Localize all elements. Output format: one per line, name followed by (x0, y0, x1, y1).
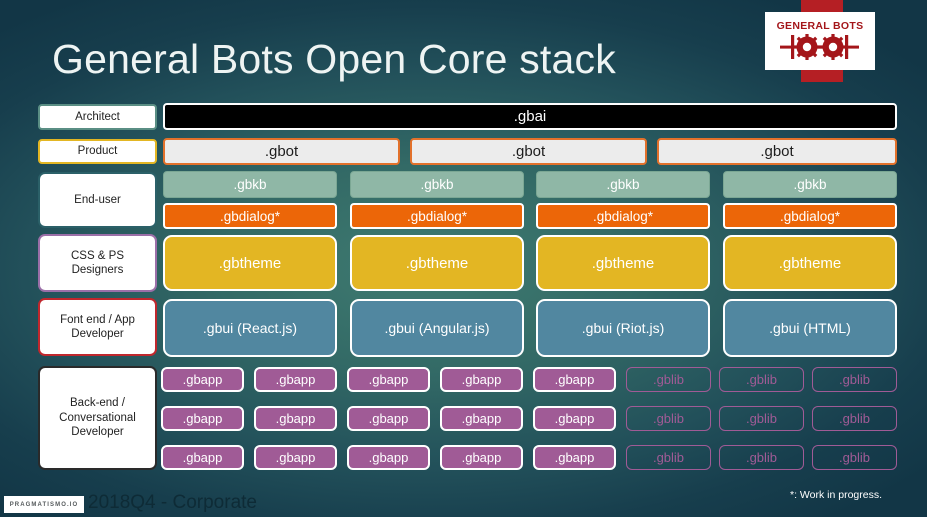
layer-gblib[interactable]: .gblib (626, 445, 711, 470)
layer-gbapp[interactable]: .gbapp (254, 367, 337, 392)
layer-gbapp[interactable]: .gbapp (440, 406, 523, 431)
layer-gblib[interactable]: .gblib (626, 406, 711, 431)
gears-logo-icon (777, 33, 863, 61)
layer-gblib[interactable]: .gblib (812, 445, 897, 470)
layer-gblib[interactable]: .gblib (719, 406, 804, 431)
work-in-progress-note: *: Work in progress. (790, 489, 882, 501)
layer-gbapp[interactable]: .gbapp (440, 367, 523, 392)
page-title: General Bots Open Core stack (52, 36, 616, 83)
layer-gbdialog-4[interactable]: .gbdialog* (723, 203, 897, 229)
layer-gbtheme-1[interactable]: .gbtheme (163, 235, 337, 291)
layer-gbdialog-2[interactable]: .gbdialog* (350, 203, 524, 229)
layer-gbui-react[interactable]: .gbui (React.js) (163, 299, 337, 357)
slide-canvas: General Bots Open Core stack GENERAL BOT… (0, 0, 927, 517)
pragmatismo-wordmark: PRAGMATISMO.IO (10, 502, 79, 508)
layer-gbapp[interactable]: .gbapp (254, 445, 337, 470)
layer-gbot-3[interactable]: .gbot (657, 138, 897, 165)
footer-caption: 2018Q4 - Corporate (88, 492, 257, 514)
row-label-product: Product (38, 139, 157, 164)
layer-gbapp[interactable]: .gbapp (161, 367, 244, 392)
layer-gbtheme-2[interactable]: .gbtheme (350, 235, 524, 291)
layer-gbai[interactable]: .gbai (163, 103, 897, 130)
layer-gbdialog-1[interactable]: .gbdialog* (163, 203, 337, 229)
layer-gblib[interactable]: .gblib (719, 367, 804, 392)
layer-gbui-angular[interactable]: .gbui (Angular.js) (350, 299, 524, 357)
layer-gbkb-2[interactable]: .gbkb (350, 171, 524, 198)
layer-gblib[interactable]: .gblib (812, 406, 897, 431)
layer-gbui-html[interactable]: .gbui (HTML) (723, 299, 897, 357)
layer-gbapp[interactable]: .gbapp (440, 445, 523, 470)
general-bots-logo: GENERAL BOTS (765, 12, 875, 70)
layer-gbapp[interactable]: .gbapp (254, 406, 337, 431)
layer-gbapp[interactable]: .gbapp (347, 406, 430, 431)
row-label-css-ps-designers: CSS & PS Designers (38, 234, 157, 292)
layer-gblib[interactable]: .gblib (626, 367, 711, 392)
layer-gbapp[interactable]: .gbapp (347, 367, 430, 392)
layer-gbot-1[interactable]: .gbot (163, 138, 400, 165)
layer-gbapp[interactable]: .gbapp (347, 445, 430, 470)
logo-wordmark: GENERAL BOTS (777, 21, 864, 32)
layer-gbapp[interactable]: .gbapp (533, 445, 616, 470)
layer-gbtheme-4[interactable]: .gbtheme (723, 235, 897, 291)
pragmatismo-logo: PRAGMATISMO.IO (4, 496, 84, 513)
layer-gblib[interactable]: .gblib (719, 445, 804, 470)
row-label-end-user: End-user (38, 172, 157, 228)
layer-gblib[interactable]: .gblib (812, 367, 897, 392)
layer-gbapp[interactable]: .gbapp (161, 445, 244, 470)
layer-gbtheme-3[interactable]: .gbtheme (536, 235, 710, 291)
layer-gbkb-4[interactable]: .gbkb (723, 171, 897, 198)
row-label-back-end-conversational-developer: Back-end / Conversational Developer (38, 366, 157, 470)
layer-gbapp[interactable]: .gbapp (533, 367, 616, 392)
layer-gbapp[interactable]: .gbapp (533, 406, 616, 431)
layer-gbot-2[interactable]: .gbot (410, 138, 647, 165)
layer-gbkb-3[interactable]: .gbkb (536, 171, 710, 198)
row-label-architect: Architect (38, 104, 157, 130)
layer-gbui-riot[interactable]: .gbui (Riot.js) (536, 299, 710, 357)
row-label-front-end-app-developer: Font end / App Developer (38, 298, 157, 356)
layer-gbapp[interactable]: .gbapp (161, 406, 244, 431)
layer-gbdialog-3[interactable]: .gbdialog* (536, 203, 710, 229)
layer-gbkb-1[interactable]: .gbkb (163, 171, 337, 198)
